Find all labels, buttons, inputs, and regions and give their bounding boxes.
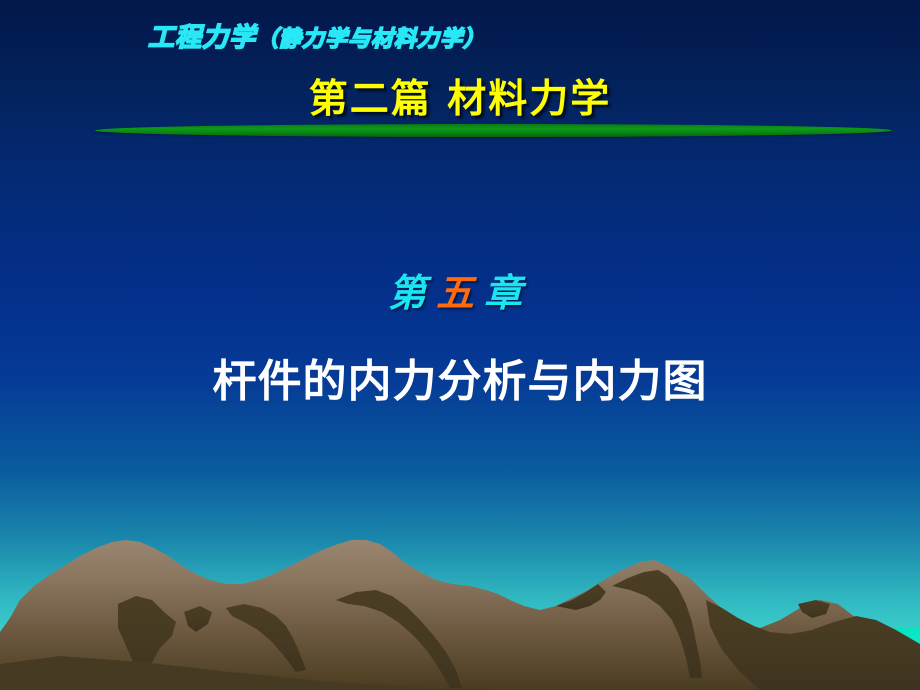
- part-title: 第二篇 材料力学: [0, 68, 920, 124]
- course-title-subtitle: （静力学与材料力学）: [256, 27, 486, 52]
- chapter-title: 杆件的内力分析与内力图: [0, 345, 920, 409]
- chapter-label-char-1: 第: [388, 270, 436, 315]
- course-title-header: 工程力学（静力学与材料力学）: [148, 17, 486, 54]
- chapter-label: 第五章: [0, 262, 920, 317]
- chapter-label-char-2: 五: [436, 270, 484, 315]
- chapter-label-char-3: 章: [484, 270, 532, 315]
- presentation-slide: 工程力学（静力学与材料力学） 第二篇 材料力学 第五章 杆件的内力分析与内力图: [0, 0, 920, 690]
- course-title-main: 工程力学: [148, 23, 256, 53]
- green-lens-divider: [95, 124, 892, 137]
